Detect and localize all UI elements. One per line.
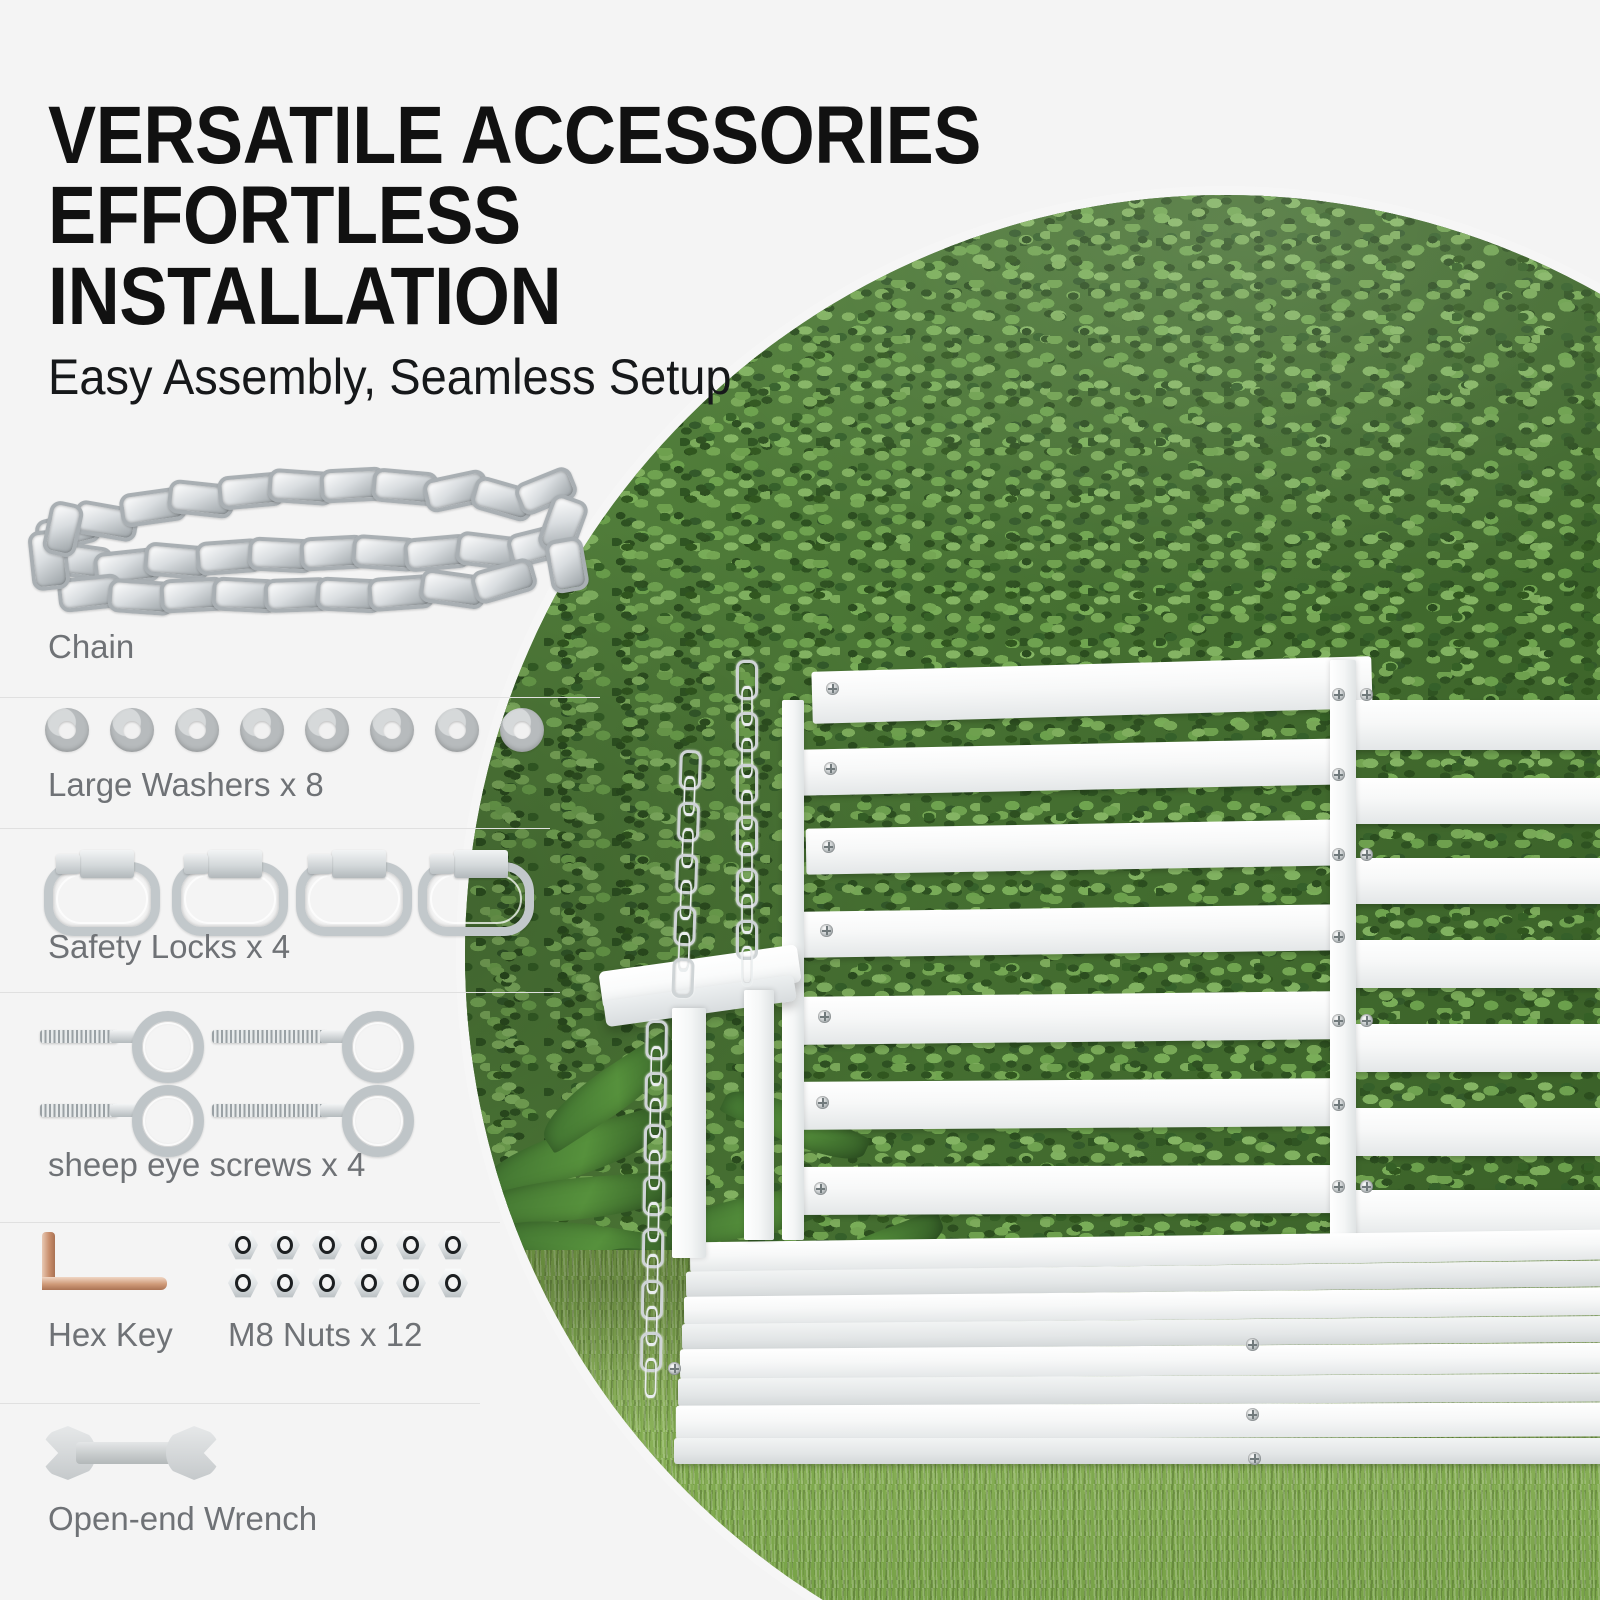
accessory-label-eye-screws: sheep eye screws x 4 xyxy=(48,1146,365,1184)
divider-4 xyxy=(0,1222,500,1223)
accessory-label-nuts: M8 Nuts x 12 xyxy=(228,1316,422,1354)
accessory-label-wrench: Open-end Wrench xyxy=(48,1500,317,1538)
page-subtitle: Easy Assembly, Seamless Setup xyxy=(48,348,732,406)
page-title: VERSATILE ACCESSORIES EFFORTLESS INSTALL… xyxy=(48,96,1016,337)
divider-5 xyxy=(0,1403,480,1404)
open-end-wrench-icon xyxy=(42,1422,220,1484)
accessories-panel: VERSATILE ACCESSORIES EFFORTLESS INSTALL… xyxy=(0,0,640,1600)
accessory-label-hex-key: Hex Key xyxy=(48,1316,173,1354)
accessory-label-washers: Large Washers x 8 xyxy=(48,766,324,804)
accessory-label-locks: Safety Locks x 4 xyxy=(48,928,290,966)
product-feature-image: VERSATILE ACCESSORIES EFFORTLESS INSTALL… xyxy=(0,0,1600,1600)
divider-2 xyxy=(0,828,550,829)
accessory-label-chain: Chain xyxy=(48,628,134,666)
hex-key-icon xyxy=(42,1232,182,1294)
divider-3 xyxy=(0,992,560,993)
chain-icon xyxy=(28,452,598,622)
divider-1 xyxy=(0,697,600,698)
